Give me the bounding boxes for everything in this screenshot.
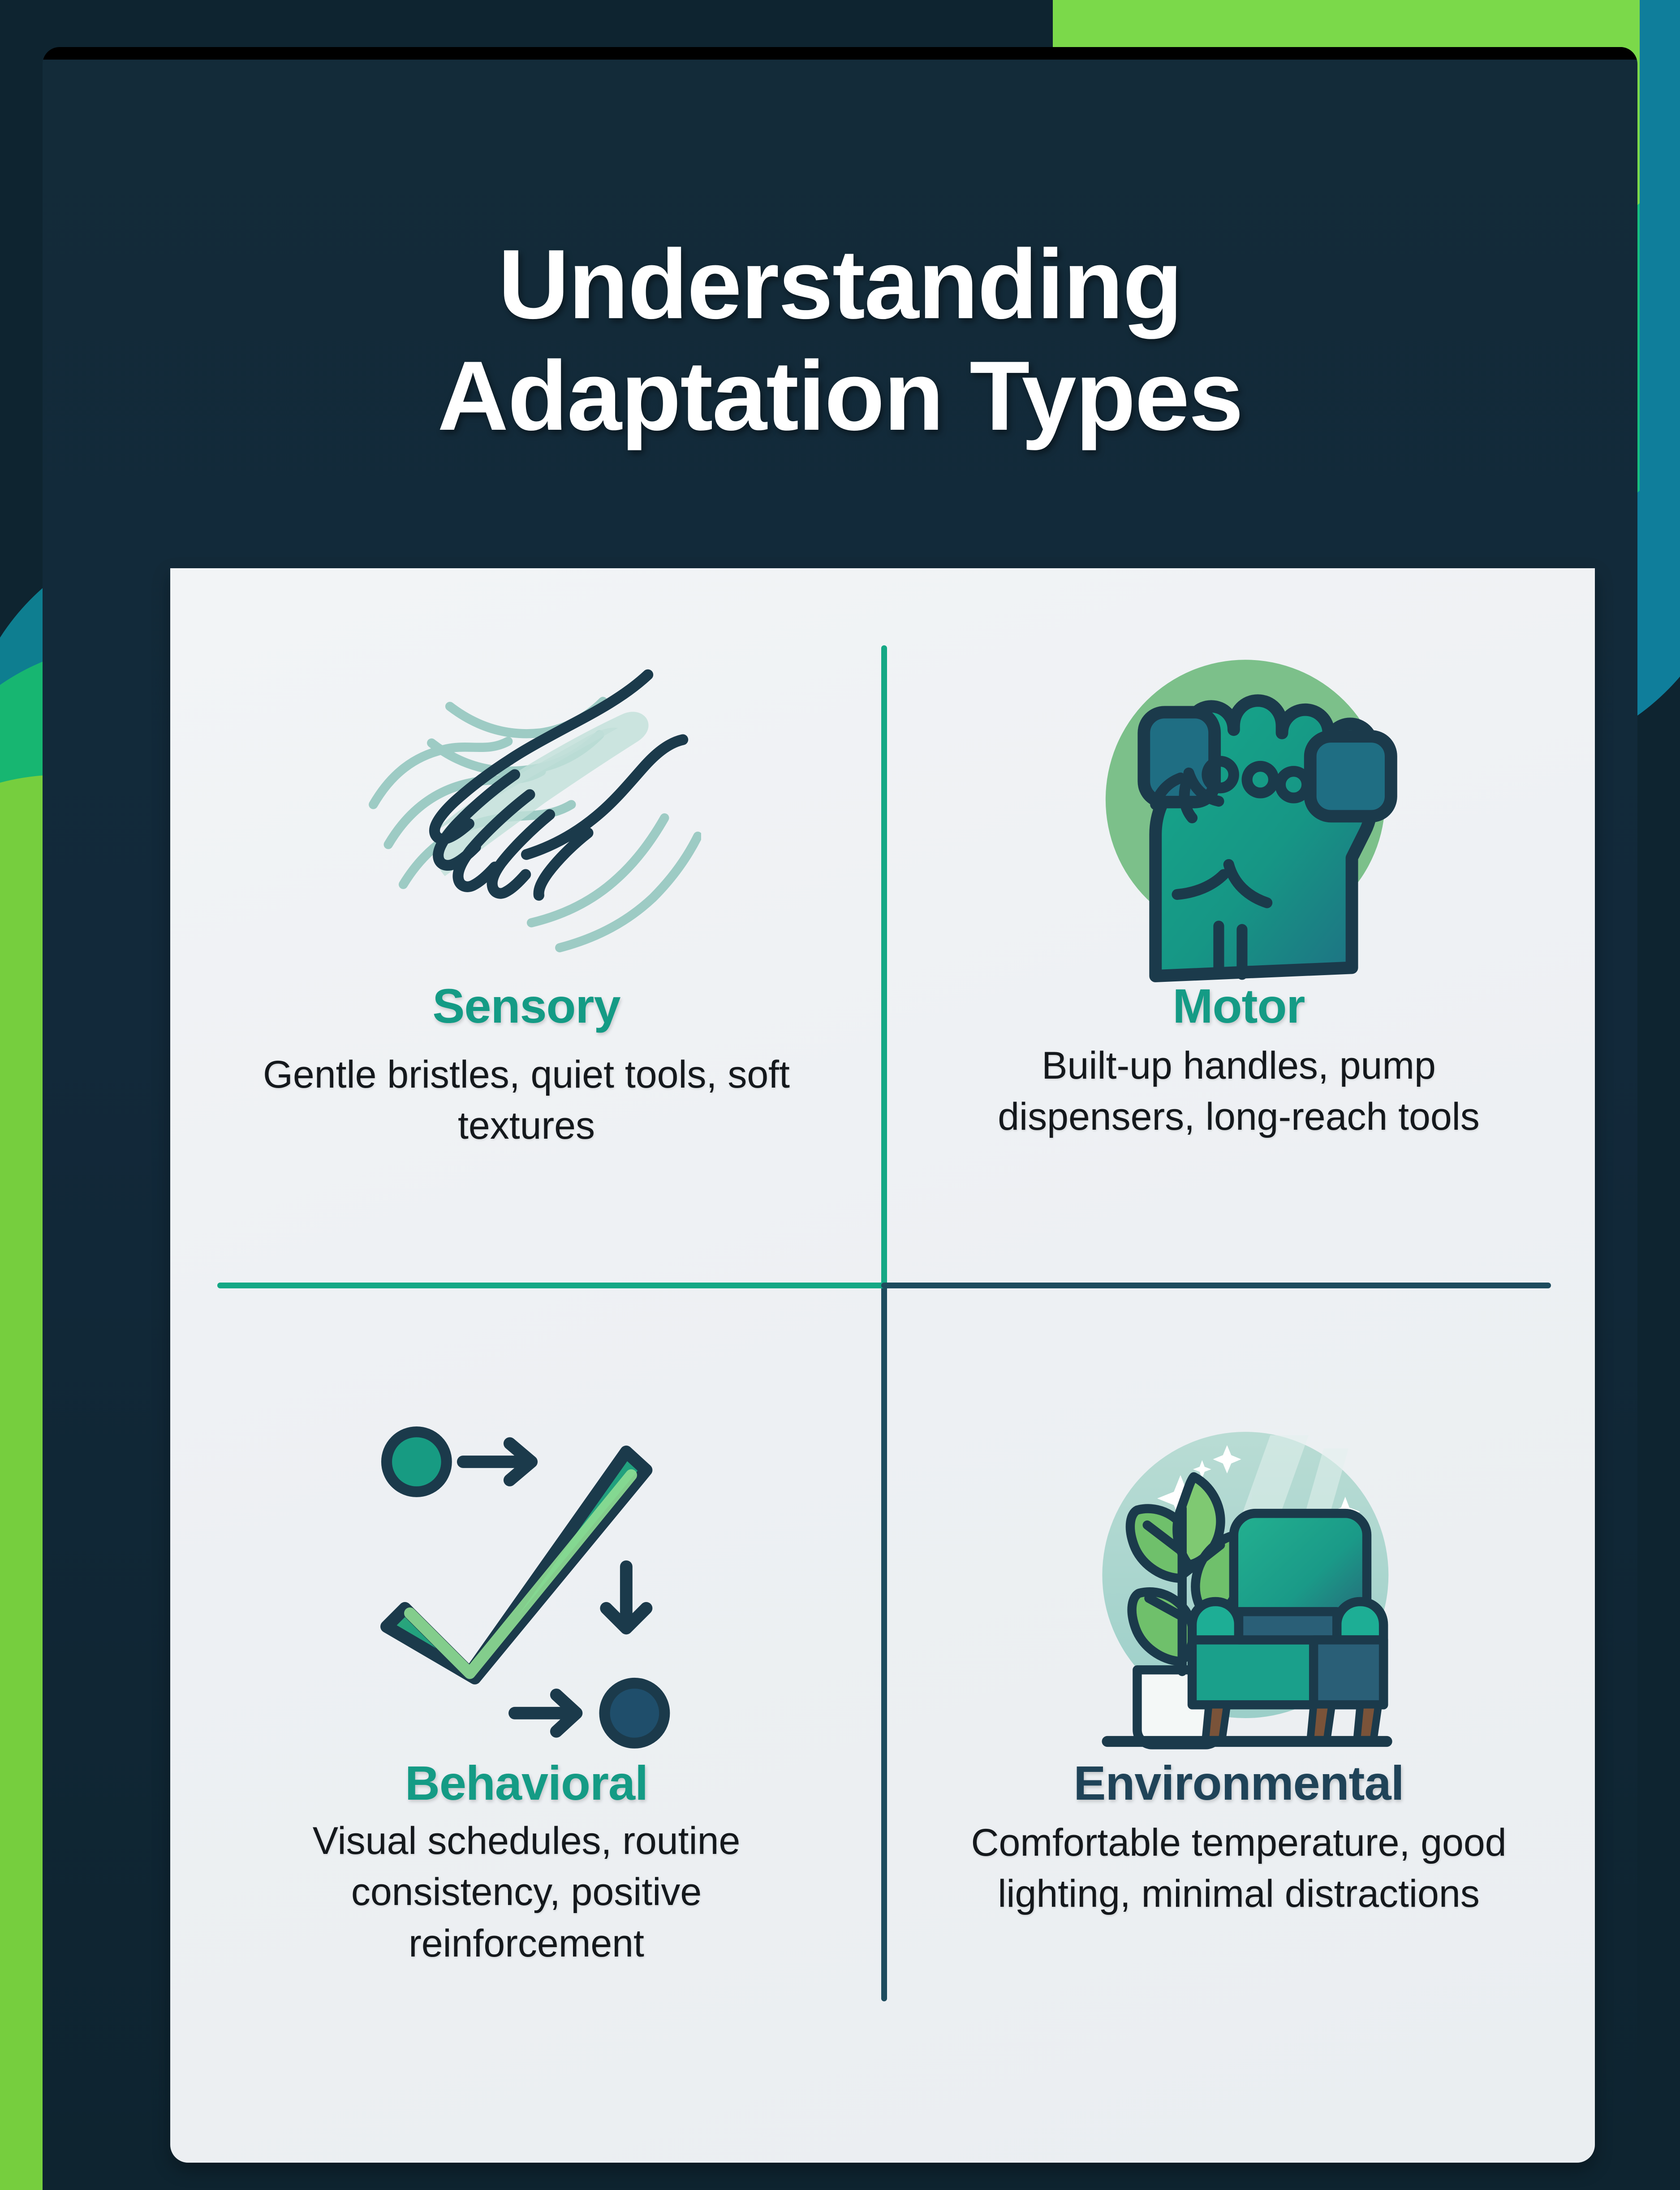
quadrant-description-sensory: Gentle bristles, quiet tools, soft textu… [237, 1049, 815, 1152]
quadrant-sensory[interactable]: Sensory Gentle bristles, quiet tools, so… [170, 568, 883, 1365]
quadrant-description-environmental: Comfortable temperature, good lighting, … [950, 1817, 1528, 1920]
divider-horizontal-left [217, 1283, 887, 1288]
background-swirl-left-lime-edge [0, 1595, 45, 2190]
background-swirl-right-edge [1640, 0, 1680, 515]
panel-top-bar [43, 47, 1637, 60]
quadrant-description-motor: Built-up handles, pump dispensers, long-… [950, 1040, 1528, 1143]
quadrant-card: Sensory Gentle bristles, quiet tools, so… [170, 568, 1595, 2163]
divider-horizontal-right [881, 1283, 1551, 1288]
armchair-with-plant-icon [1064, 1392, 1413, 1764]
divider-vertical-bottom [881, 1285, 887, 2001]
quadrant-description-behavioral: Visual schedules, routine consistency, p… [237, 1815, 815, 1969]
page-title: Understanding Adaptation Types [43, 229, 1637, 451]
background-swirl-top-lime [1053, 0, 1680, 54]
divider-vertical-top [881, 645, 887, 1285]
quadrant-title-motor: Motor [1173, 982, 1305, 1030]
quadrant-environmental[interactable]: Environmental Comfortable temperature, g… [883, 1365, 1595, 2163]
title-line-1: Understanding [43, 229, 1637, 340]
raised-fist-icon [1064, 615, 1413, 987]
quadrant-title-behavioral: Behavioral [405, 1759, 648, 1807]
checkmark-with-arrows-icon [352, 1392, 701, 1764]
title-line-2: Adaptation Types [43, 340, 1637, 452]
main-panel: Understanding Adaptation Types [43, 47, 1637, 2190]
quadrant-motor[interactable]: Motor Built-up handles, pump dispensers,… [883, 568, 1595, 1365]
infographic-poster: Understanding Adaptation Types [0, 0, 1680, 2190]
hand-with-flowing-waves-icon [352, 615, 701, 987]
quadrant-title-environmental: Environmental [1073, 1759, 1404, 1807]
quadrant-behavioral[interactable]: Behavioral Visual schedules, routine con… [170, 1365, 883, 2163]
quadrant-title-sensory: Sensory [432, 982, 620, 1030]
